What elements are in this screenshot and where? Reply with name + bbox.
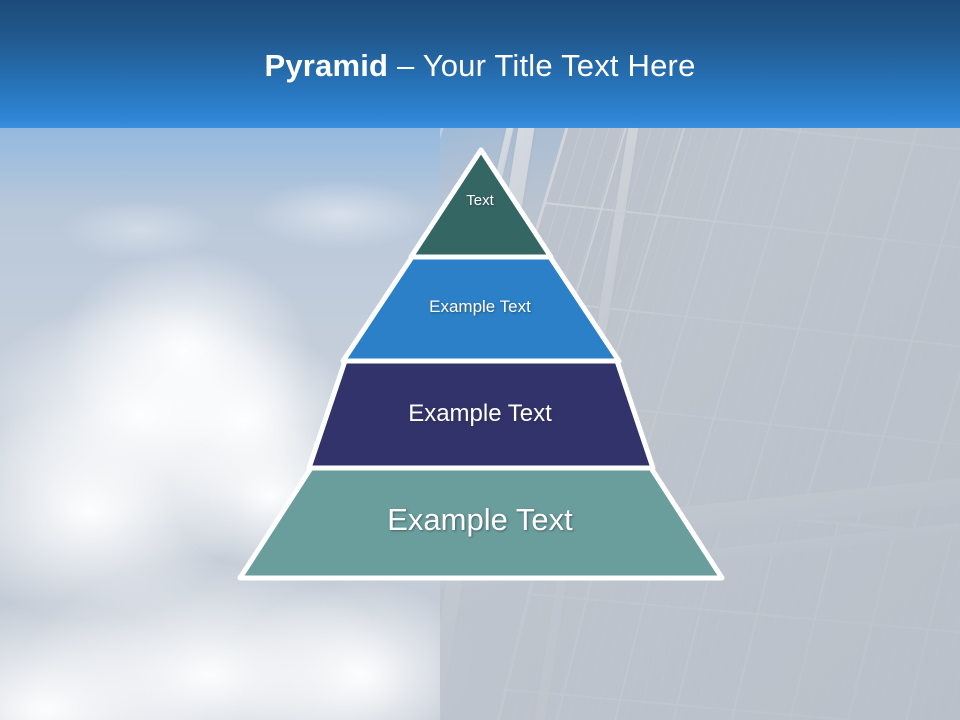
pyramid-tier-2-label[interactable]: Example Text (0, 297, 960, 317)
cloud-wisp-upper-left (250, 180, 430, 250)
page-title: Pyramid – Your Title Text Here (0, 47, 960, 85)
page-title-remainder: – Your Title Text Here (388, 48, 695, 83)
pyramid-tier-3-label[interactable]: Example Text (0, 400, 960, 428)
page-title-emphasis: Pyramid (264, 48, 388, 83)
pyramid-tier-1-label[interactable]: Text (0, 192, 960, 209)
cloud-right-of-main (170, 420, 370, 570)
pyramid-tier-4-label[interactable]: Example Text (0, 502, 960, 538)
slide-canvas: Pyramid – Your Title Text Here Text Exam… (0, 0, 960, 720)
